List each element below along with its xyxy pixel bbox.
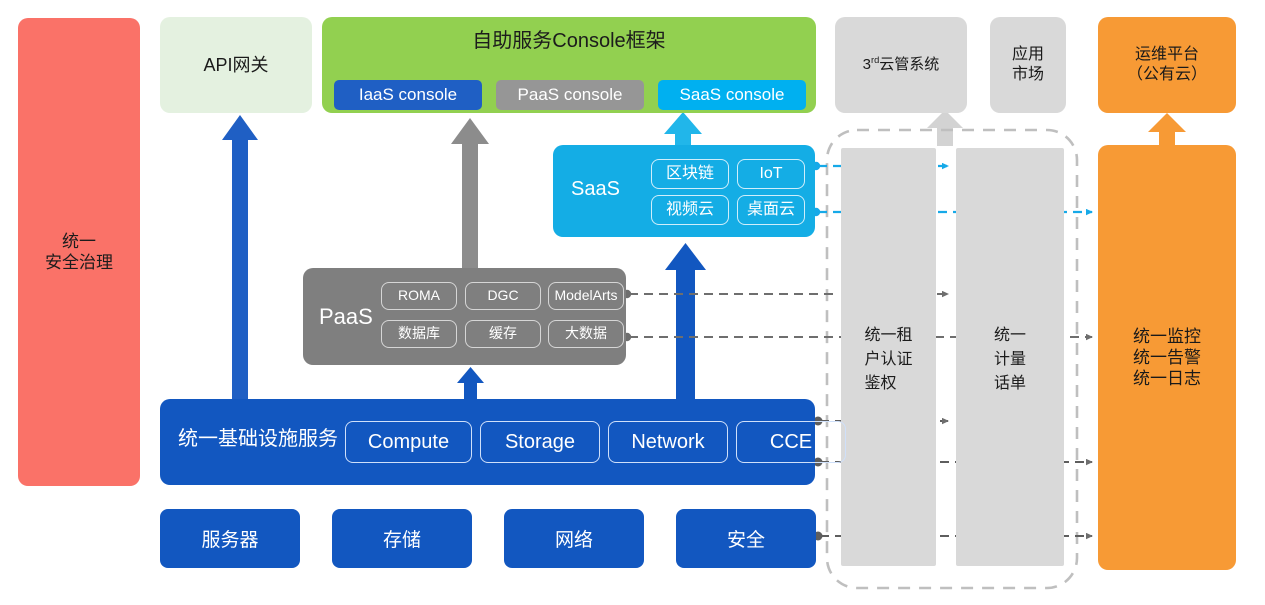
ops-monitoring-panel: 统一监控 统一告警 统一日志 bbox=[1098, 145, 1236, 570]
iaas-console-button[interactable]: IaaS console bbox=[334, 80, 482, 110]
unified-metering-billing-label: 统一 计量 话单 bbox=[994, 321, 1026, 393]
resource-box-storage[interactable]: 存储 bbox=[332, 509, 472, 568]
paas-item-database[interactable]: 数据库 bbox=[381, 320, 457, 348]
paas-item-roma[interactable]: ROMA bbox=[381, 282, 457, 310]
governance-label: 统一 安全治理 bbox=[45, 231, 113, 274]
ops-platform-label: 运维平台 （公有云） bbox=[1127, 45, 1207, 85]
saas-console-button[interactable]: SaaS console bbox=[658, 80, 806, 110]
arrow-saas-to-console bbox=[664, 112, 702, 148]
resource-box-security[interactable]: 安全 bbox=[676, 509, 816, 568]
third-party-label: 3rd云管系统 bbox=[863, 55, 940, 75]
infrastructure-bar: 统一基础设施服务 Compute Storage Network CCE bbox=[160, 399, 815, 485]
paas-item-bigdata[interactable]: 大数据 bbox=[548, 320, 624, 348]
saas-label: SaaS bbox=[571, 177, 620, 202]
saas-item-desktop-cloud[interactable]: 桌面云 bbox=[737, 195, 805, 225]
api-gateway-label: API网关 bbox=[203, 54, 268, 77]
infrastructure-label: 统一基础设施服务 bbox=[178, 427, 338, 452]
resource-box-server[interactable]: 服务器 bbox=[160, 509, 300, 568]
api-gateway-box[interactable]: API网关 bbox=[160, 17, 312, 113]
saas-item-iot[interactable]: IoT bbox=[737, 159, 805, 189]
unified-tenant-auth-column: 统一租 户认证 鉴权 bbox=[841, 148, 936, 566]
infra-item-network[interactable]: Network bbox=[608, 421, 728, 463]
arrow-ops-panel-to-platform bbox=[1148, 113, 1186, 147]
paas-box: PaaS ROMA DGC ModelArts 数据库 缓存 大数据 bbox=[303, 268, 626, 365]
architecture-diagram: 统一 安全治理 API网关 自助服务Console框架 IaaS console… bbox=[0, 0, 1265, 605]
console-frame: 自助服务Console框架 IaaS console PaaS console … bbox=[322, 17, 816, 113]
arrow-infra-to-apigw bbox=[222, 115, 258, 399]
app-market-label: 应用 市场 bbox=[1012, 45, 1044, 85]
infra-item-storage[interactable]: Storage bbox=[480, 421, 600, 463]
paas-label: PaaS bbox=[319, 303, 373, 331]
third-party-prefix: 3 bbox=[863, 56, 871, 73]
console-frame-title: 自助服务Console框架 bbox=[322, 29, 816, 54]
saas-item-video-cloud[interactable]: 视频云 bbox=[651, 195, 729, 225]
third-party-cloud-mgmt-box[interactable]: 3rd云管系统 bbox=[835, 17, 967, 113]
infra-item-cce[interactable]: CCE bbox=[736, 421, 846, 463]
arrow-infra-to-paas bbox=[457, 367, 484, 399]
paas-item-dgc[interactable]: DGC bbox=[465, 282, 541, 310]
arrow-middle-to-third-party bbox=[927, 110, 963, 146]
unified-tenant-auth-label: 统一租 户认证 鉴权 bbox=[864, 321, 912, 393]
third-party-suffix: 云管系统 bbox=[879, 56, 939, 73]
saas-box: SaaS 区块链 IoT 视频云 桌面云 bbox=[553, 145, 815, 237]
ops-platform-box[interactable]: 运维平台 （公有云） bbox=[1098, 17, 1236, 113]
arrow-infra-to-saas bbox=[665, 243, 706, 399]
unified-metering-billing-column: 统一 计量 话单 bbox=[956, 148, 1064, 566]
ops-monitoring-label: 统一监控 统一告警 统一日志 bbox=[1133, 326, 1201, 390]
app-market-box[interactable]: 应用 市场 bbox=[990, 17, 1066, 113]
resource-box-network[interactable]: 网络 bbox=[504, 509, 644, 568]
paas-item-modelarts[interactable]: ModelArts bbox=[548, 282, 624, 310]
paas-console-button[interactable]: PaaS console bbox=[496, 80, 644, 110]
arrow-paas-to-console bbox=[451, 118, 489, 268]
infra-item-compute[interactable]: Compute bbox=[345, 421, 472, 463]
saas-item-blockchain[interactable]: 区块链 bbox=[651, 159, 729, 189]
paas-item-cache[interactable]: 缓存 bbox=[465, 320, 541, 348]
governance-panel: 统一 安全治理 bbox=[18, 18, 140, 486]
